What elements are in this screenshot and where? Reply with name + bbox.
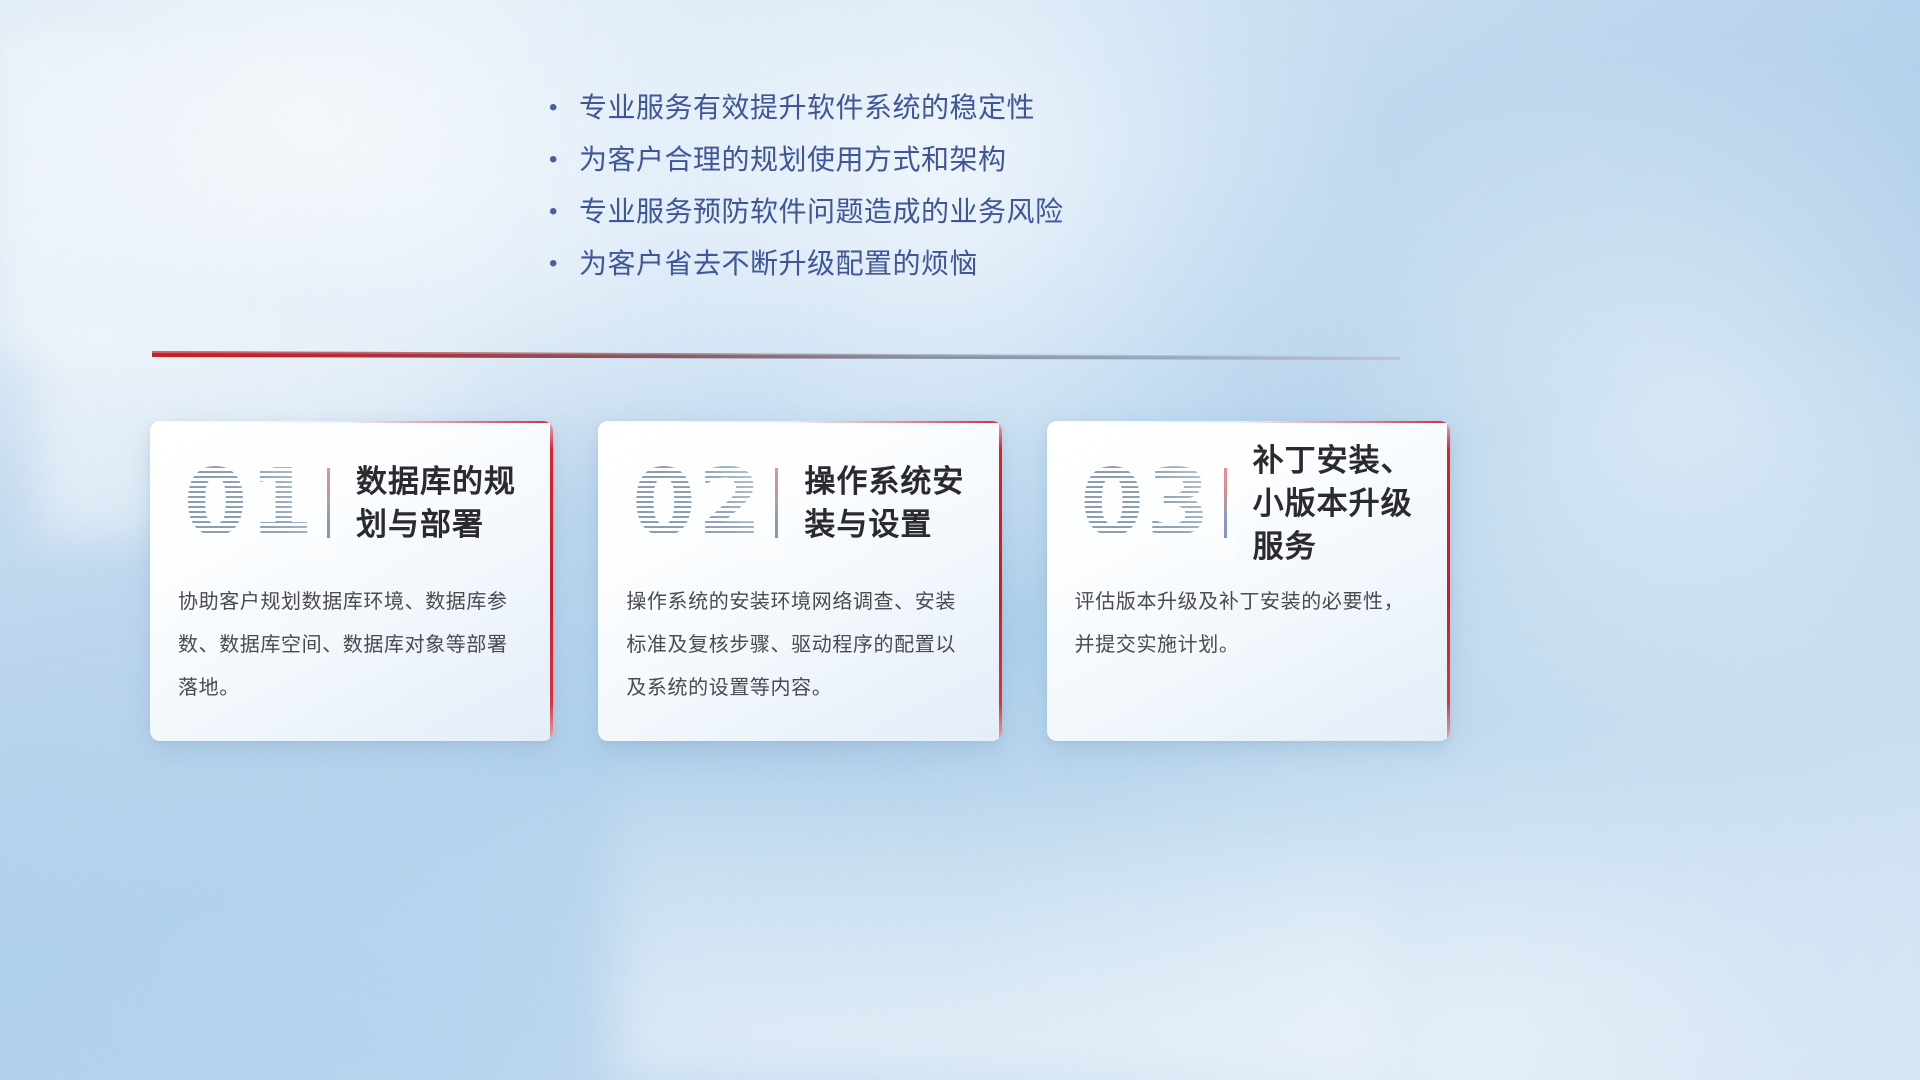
- card-description: 协助客户规划数据库环境、数据库参数、数据库空间、数据库对象等部署落地。: [178, 581, 525, 710]
- list-item: • 专业服务预防软件问题造成的业务风险: [545, 192, 1385, 244]
- card-title-divider-icon: [327, 468, 330, 538]
- card-title-divider-icon: [1224, 468, 1227, 538]
- service-card-row: 01 数据库的规划与部署 协助客户规划数据库环境、数据库参数、数据库空间、数据库…: [150, 421, 1450, 741]
- card-description: 操作系统的安装环境网络调查、安装标准及复核步骤、驱动程序的配置以及系统的设置等内…: [626, 581, 973, 710]
- card-number-watermark: 01: [172, 451, 327, 555]
- bullet-item-label: 为客户合理的规划使用方式和架构: [579, 140, 1007, 180]
- card-number-label: 02: [620, 451, 775, 555]
- card-number-label: 01: [172, 451, 327, 555]
- card-number-watermark: 03: [1069, 451, 1224, 555]
- card-header: 01 数据库的规划与部署: [150, 447, 553, 559]
- card-header: 02 操作系统安装与设置: [598, 447, 1001, 559]
- card-top-highlight: [1047, 421, 1450, 423]
- card-title: 补丁安装、小版本升级服务: [1253, 439, 1450, 568]
- section-divider: [152, 349, 1400, 361]
- card-top-highlight: [150, 421, 553, 423]
- bullet-dot-icon: •: [545, 192, 579, 232]
- service-card[interactable]: 03 补丁安装、小版本升级服务 评估版本升级及补丁安装的必要性，并提交实施计划。: [1047, 421, 1450, 741]
- bullet-dot-icon: •: [545, 140, 579, 180]
- bullet-dot-icon: •: [545, 244, 579, 284]
- benefits-bullet-list: • 专业服务有效提升软件系统的稳定性 • 为客户合理的规划使用方式和架构 • 专…: [545, 88, 1385, 296]
- card-number-label: 03: [1069, 451, 1224, 555]
- card-description: 评估版本升级及补丁安装的必要性，并提交实施计划。: [1075, 581, 1422, 667]
- list-item: • 为客户省去不断升级配置的烦恼: [545, 244, 1385, 296]
- divider-shape-icon: [152, 349, 1400, 361]
- card-header: 03 补丁安装、小版本升级服务: [1047, 447, 1450, 559]
- bullet-dot-icon: •: [545, 88, 579, 128]
- card-number-watermark: 02: [620, 451, 775, 555]
- bullet-item-label: 为客户省去不断升级配置的烦恼: [579, 244, 978, 284]
- list-item: • 专业服务有效提升软件系统的稳定性: [545, 88, 1385, 140]
- bullet-item-label: 专业服务有效提升软件系统的稳定性: [579, 88, 1035, 128]
- card-title-divider-icon: [775, 468, 778, 538]
- service-card[interactable]: 02 操作系统安装与设置 操作系统的安装环境网络调查、安装标准及复核步骤、驱动程…: [598, 421, 1001, 741]
- card-top-highlight: [598, 421, 1001, 423]
- card-title: 操作系统安装与设置: [804, 460, 1001, 546]
- list-item: • 为客户合理的规划使用方式和架构: [545, 140, 1385, 192]
- bullet-item-label: 专业服务预防软件问题造成的业务风险: [579, 192, 1064, 232]
- card-title: 数据库的规划与部署: [356, 460, 553, 546]
- service-card[interactable]: 01 数据库的规划与部署 协助客户规划数据库环境、数据库参数、数据库空间、数据库…: [150, 421, 553, 741]
